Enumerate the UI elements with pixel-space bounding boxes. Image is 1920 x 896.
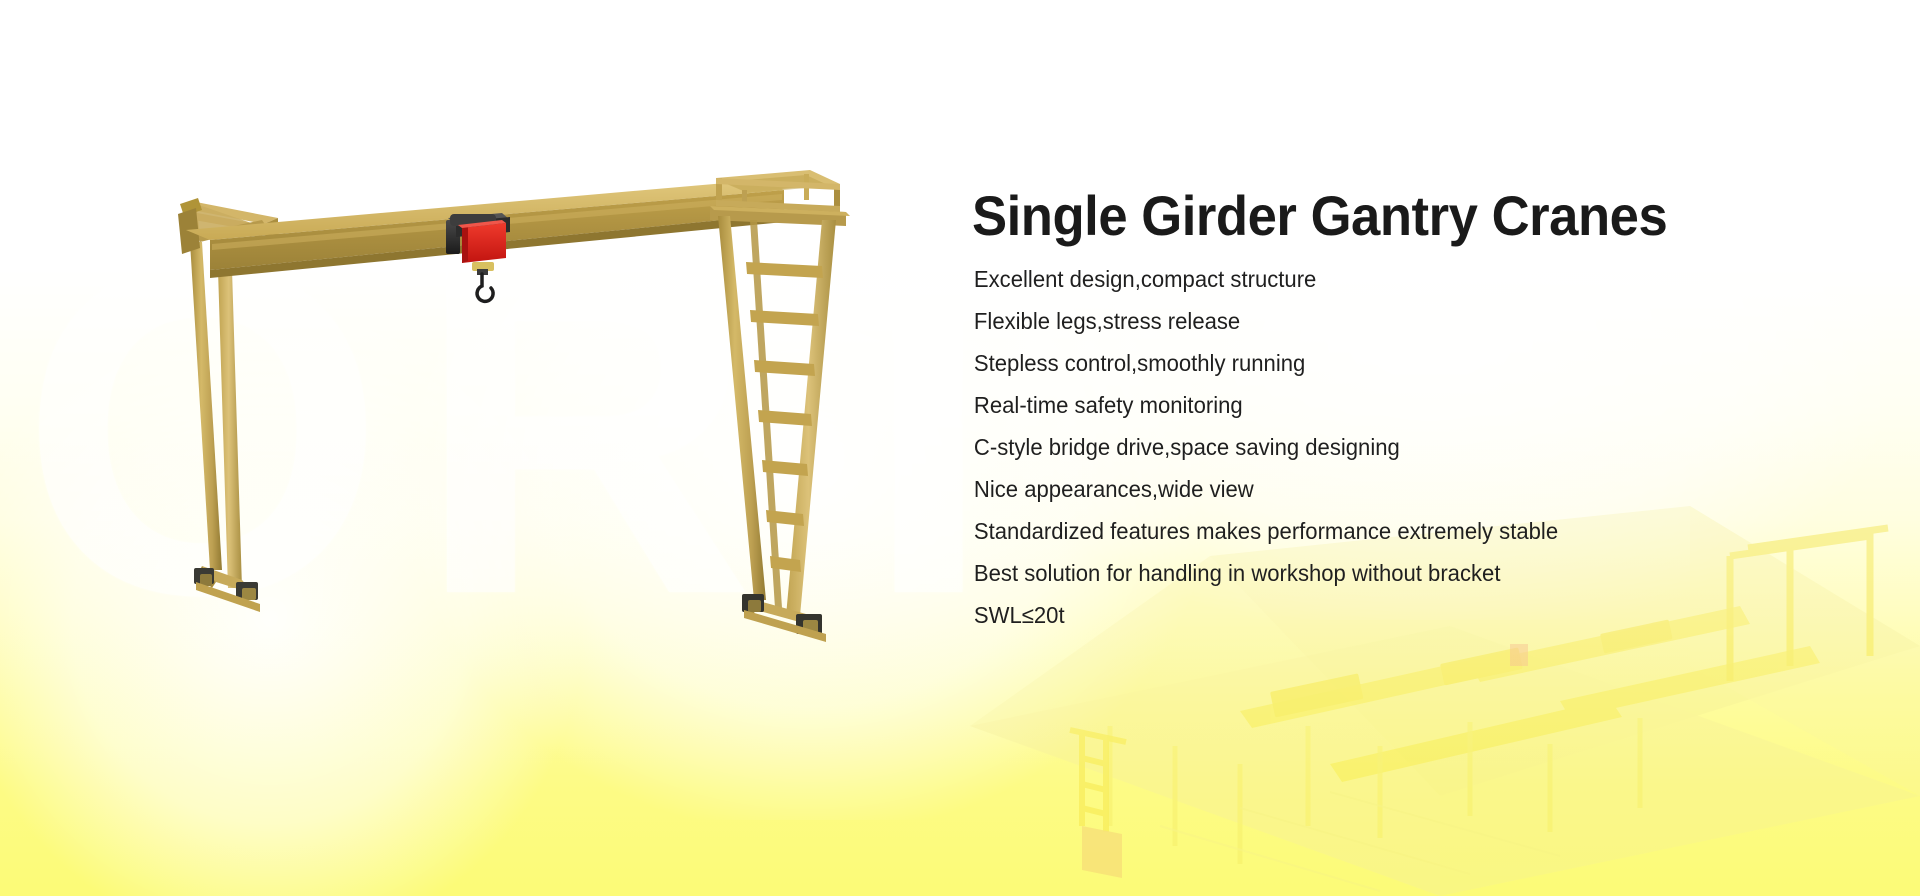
feature-item-6: Nice appearances,wide view <box>972 478 1836 501</box>
feature-item-7: Standardized features makes performance … <box>972 520 1836 543</box>
feature-item-9: SWL≤20t <box>972 604 1836 627</box>
hero-text-column: Single Girder Gantry Cranes Excellent de… <box>972 186 1872 646</box>
feature-item-1: Excellent design,compact structure <box>972 268 1836 291</box>
feature-item-8: Best solution for handling in workshop w… <box>972 562 1836 585</box>
page-title: Single Girder Gantry Cranes <box>972 186 1818 246</box>
feature-item-3: Stepless control,smoothly running <box>972 352 1836 375</box>
feature-item-2: Flexible legs,stress release <box>972 310 1836 333</box>
feature-list: Excellent design,compact structure Flexi… <box>972 268 1872 627</box>
gantry-crane-illustration <box>150 170 910 730</box>
hero-banner: ORT <box>0 0 1920 896</box>
feature-item-4: Real-time safety monitoring <box>972 394 1836 417</box>
feature-item-5: C-style bridge drive,space saving design… <box>972 436 1836 459</box>
